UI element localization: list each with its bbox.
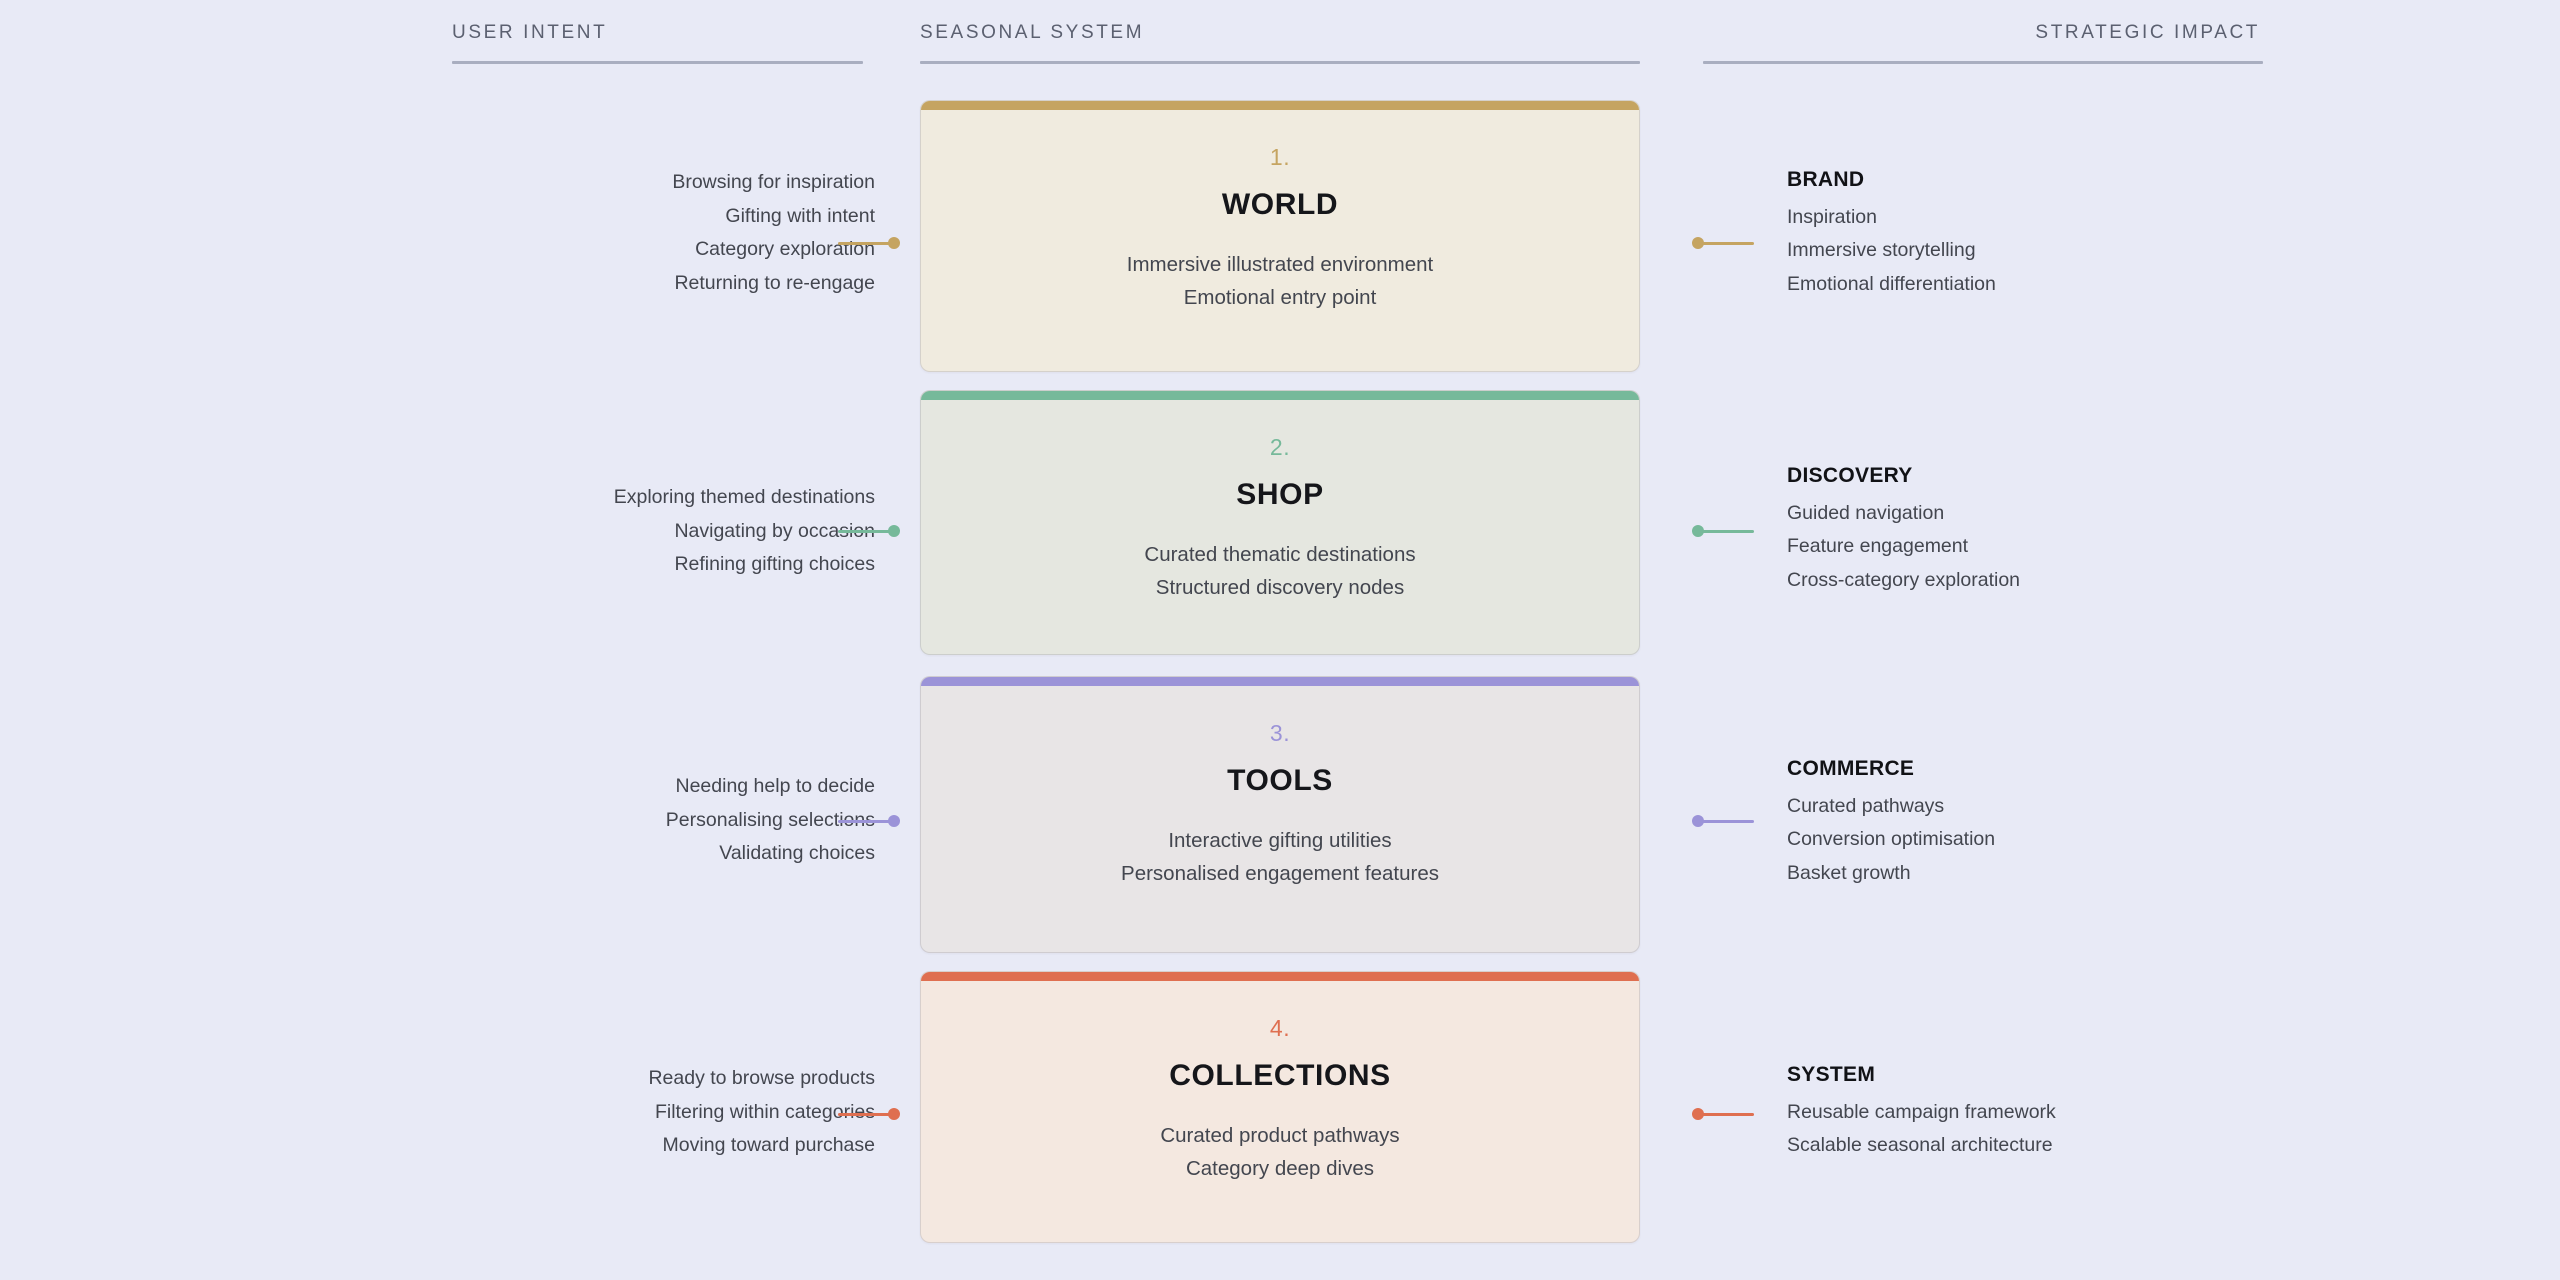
user-intent-item: Filtering within categories (300, 1096, 875, 1130)
connector-right-line (1702, 242, 1754, 245)
connector-left-line (838, 242, 890, 245)
strategic-impact-list: COMMERCECurated pathwaysConversion optim… (1787, 752, 2387, 890)
stage-description-line: Category deep dives (951, 1152, 1609, 1185)
user-intent-item: Ready to browse products (300, 1062, 875, 1096)
impact-pillar-title: DISCOVERY (1787, 459, 2387, 493)
connector-right-dot (1692, 237, 1704, 249)
stage-description-line: Immersive illustrated environment (951, 248, 1609, 281)
impact-item: Curated pathways (1787, 790, 2387, 824)
connector-left (838, 1108, 900, 1120)
stage-number: 1. (951, 144, 1609, 171)
user-intent-list: Browsing for inspirationGifting with int… (300, 166, 875, 300)
connector-right (1692, 1108, 1754, 1120)
impact-pillar-title: COMMERCE (1787, 752, 2387, 786)
stage-description-line: Emotional entry point (951, 281, 1609, 314)
user-intent-item: Personalising selections (300, 804, 875, 838)
connector-left-dot (888, 1108, 900, 1120)
connector-left-line (838, 530, 890, 533)
stage-description-line: Curated product pathways (951, 1119, 1609, 1152)
user-intent-item: Gifting with intent (300, 200, 875, 234)
connector-left-line (838, 820, 890, 823)
column-rule-user-intent (452, 61, 863, 64)
impact-item: Scalable seasonal architecture (1787, 1129, 2387, 1163)
seasonal-system-diagram: USER INTENT SEASONAL SYSTEM STRATEGIC IM… (0, 0, 2560, 1280)
column-rule-seasonal-system (920, 61, 1640, 64)
impact-item: Immersive storytelling (1787, 234, 2387, 268)
stage-description-line: Personalised engagement features (951, 857, 1609, 890)
column-header-user-intent: USER INTENT (452, 22, 863, 64)
stage-card[interactable]: 1.WORLDImmersive illustrated environment… (920, 100, 1640, 372)
connector-right (1692, 237, 1754, 249)
connector-left-dot (888, 525, 900, 537)
stage-description-line: Curated thematic destinations (951, 538, 1609, 571)
stage-card-body: 4.COLLECTIONSCurated product pathwaysCat… (921, 981, 1639, 1215)
column-header-seasonal-system-label: SEASONAL SYSTEM (920, 22, 1640, 44)
user-intent-item: Browsing for inspiration (300, 166, 875, 200)
connector-right-line (1702, 820, 1754, 823)
user-intent-item: Validating choices (300, 837, 875, 871)
user-intent-item: Navigating by occasion (300, 515, 875, 549)
stage-card-body: 1.WORLDImmersive illustrated environment… (921, 110, 1639, 344)
user-intent-item: Moving toward purchase (300, 1129, 875, 1163)
connector-left (838, 815, 900, 827)
connector-right-dot (1692, 815, 1704, 827)
connector-right-dot (1692, 525, 1704, 537)
stage-card-accent-bar (921, 391, 1639, 400)
stage-title: SHOP (951, 478, 1609, 512)
stage-number: 3. (951, 720, 1609, 747)
column-rule-strategic-impact (1703, 61, 2263, 64)
stage-card-accent-bar (921, 101, 1639, 110)
stage-title: COLLECTIONS (951, 1059, 1609, 1093)
connector-left (838, 525, 900, 537)
user-intent-list: Exploring themed destinationsNavigating … (300, 481, 875, 582)
impact-item: Emotional differentiation (1787, 268, 2387, 302)
connector-left-line (838, 1113, 890, 1116)
impact-item: Guided navigation (1787, 497, 2387, 531)
connector-right-line (1702, 530, 1754, 533)
stage-card-body: 2.SHOPCurated thematic destinationsStruc… (921, 400, 1639, 634)
impact-item: Cross-category exploration (1787, 564, 2387, 598)
stage-card[interactable]: 4.COLLECTIONSCurated product pathwaysCat… (920, 971, 1640, 1243)
user-intent-item: Needing help to decide (300, 770, 875, 804)
impact-item: Feature engagement (1787, 530, 2387, 564)
column-header-strategic-impact: STRATEGIC IMPACT (1703, 22, 2263, 64)
user-intent-item: Refining gifting choices (300, 548, 875, 582)
strategic-impact-list: BRANDInspirationImmersive storytellingEm… (1787, 163, 2387, 301)
stage-card[interactable]: 3.TOOLSInteractive gifting utilitiesPers… (920, 676, 1640, 953)
connector-right (1692, 815, 1754, 827)
user-intent-list: Ready to browse productsFiltering within… (300, 1062, 875, 1163)
connector-left (838, 237, 900, 249)
stage-description-line: Structured discovery nodes (951, 571, 1609, 604)
stage-number: 4. (951, 1015, 1609, 1042)
stage-card-accent-bar (921, 677, 1639, 686)
connector-left-dot (888, 237, 900, 249)
strategic-impact-list: DISCOVERYGuided navigationFeature engage… (1787, 459, 2387, 597)
impact-item: Reusable campaign framework (1787, 1096, 2387, 1130)
stage-card-accent-bar (921, 972, 1639, 981)
stage-number: 2. (951, 434, 1609, 461)
stage-title: WORLD (951, 188, 1609, 222)
strategic-impact-list: SYSTEMReusable campaign frameworkScalabl… (1787, 1058, 2387, 1163)
column-header-seasonal-system: SEASONAL SYSTEM (920, 22, 1640, 64)
connector-left-dot (888, 815, 900, 827)
user-intent-item: Returning to re-engage (300, 267, 875, 301)
column-header-user-intent-label: USER INTENT (452, 22, 863, 44)
stage-description-line: Interactive gifting utilities (951, 824, 1609, 857)
stage-card-body: 3.TOOLSInteractive gifting utilitiesPers… (921, 686, 1639, 920)
impact-pillar-title: BRAND (1787, 163, 2387, 197)
impact-pillar-title: SYSTEM (1787, 1058, 2387, 1092)
impact-item: Inspiration (1787, 201, 2387, 235)
column-header-strategic-impact-label: STRATEGIC IMPACT (1703, 22, 2263, 44)
user-intent-item: Category exploration (300, 233, 875, 267)
connector-right-dot (1692, 1108, 1704, 1120)
stage-title: TOOLS (951, 764, 1609, 798)
connector-right-line (1702, 1113, 1754, 1116)
impact-item: Conversion optimisation (1787, 823, 2387, 857)
user-intent-list: Needing help to decidePersonalising sele… (300, 770, 875, 871)
user-intent-item: Exploring themed destinations (300, 481, 875, 515)
connector-right (1692, 525, 1754, 537)
stage-card[interactable]: 2.SHOPCurated thematic destinationsStruc… (920, 390, 1640, 655)
impact-item: Basket growth (1787, 857, 2387, 891)
